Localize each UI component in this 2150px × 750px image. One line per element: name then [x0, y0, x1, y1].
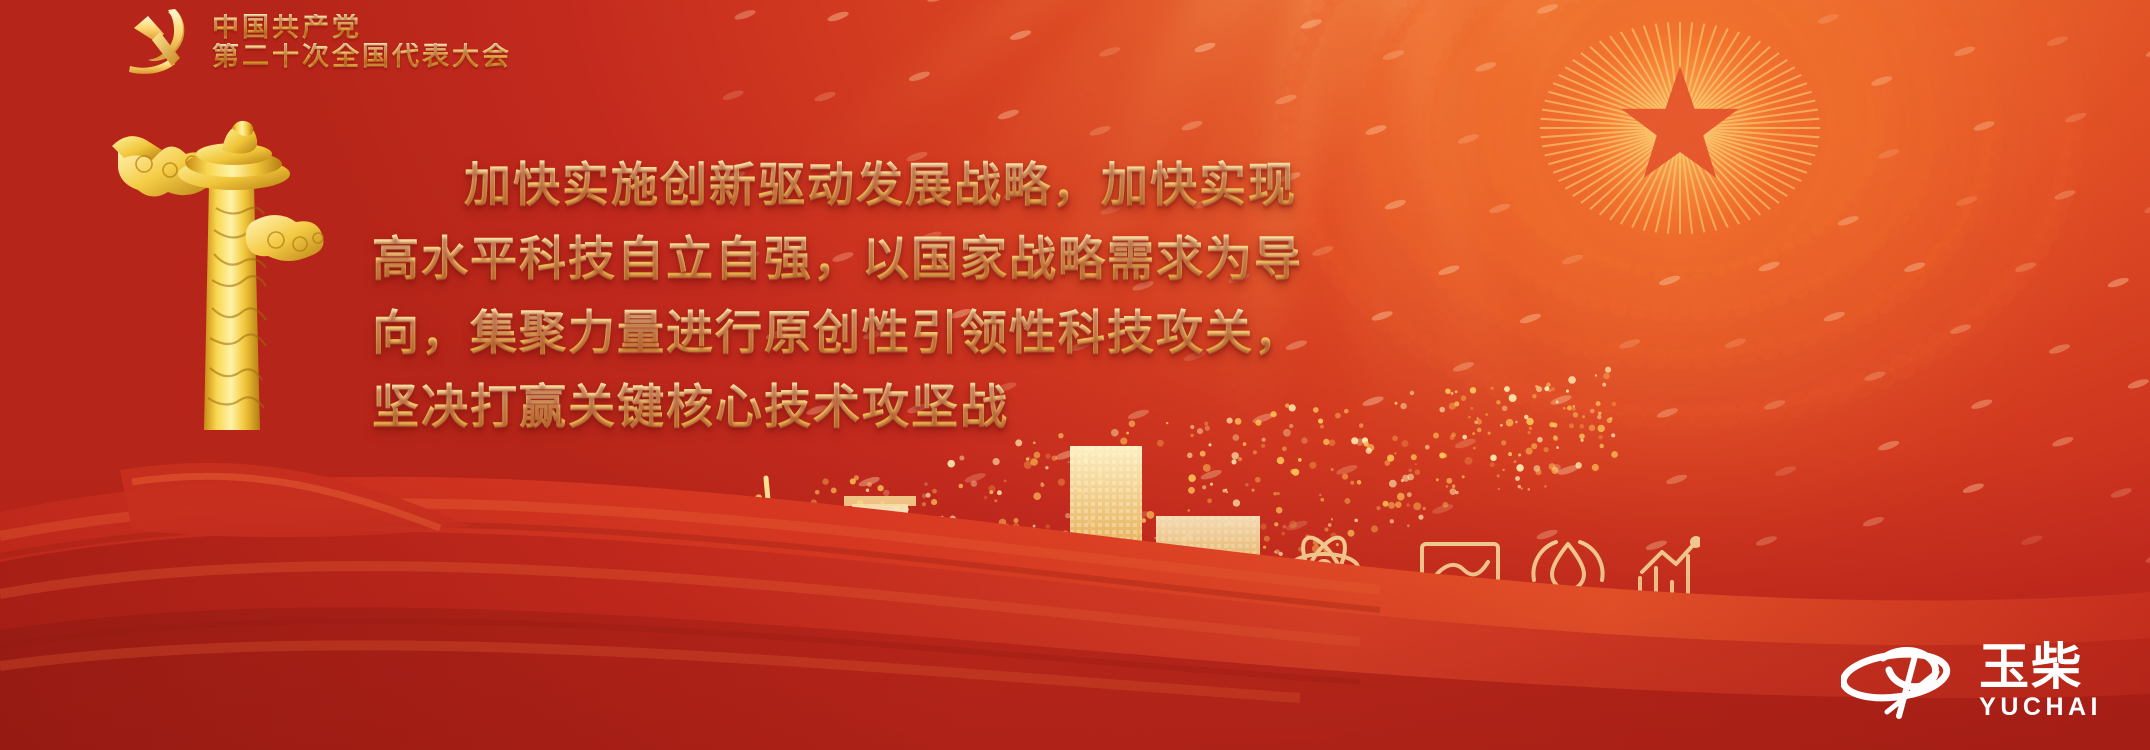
- yuchai-logo: 玉柴 YUCHAI: [1841, 642, 2102, 722]
- cloud-board-right: [246, 215, 324, 261]
- congress-title-line2: 第二十次全国代表大会: [212, 43, 512, 70]
- brand-name-en: YUCHAI: [1979, 694, 2102, 722]
- slogan-line-2: 高水平科技自立自强，以国家战略需求为导: [372, 222, 1712, 296]
- banner-root: 中国共产党 第二十次全国代表大会: [0, 0, 2150, 750]
- brand-name-cn: 玉柴: [1979, 643, 2083, 691]
- congress-title-line1: 中国共产党: [212, 14, 512, 41]
- congress-header-lockup: 中国共产党 第二十次全国代表大会: [118, 4, 512, 80]
- yuchai-swoosh-icon: [1841, 642, 1963, 722]
- red-silk-ribbon-icon: [0, 330, 2150, 750]
- slogan-line-1: 加快实施创新驱动发展战略，加快实现: [372, 148, 1712, 222]
- hammer-and-sickle-icon: [118, 4, 198, 80]
